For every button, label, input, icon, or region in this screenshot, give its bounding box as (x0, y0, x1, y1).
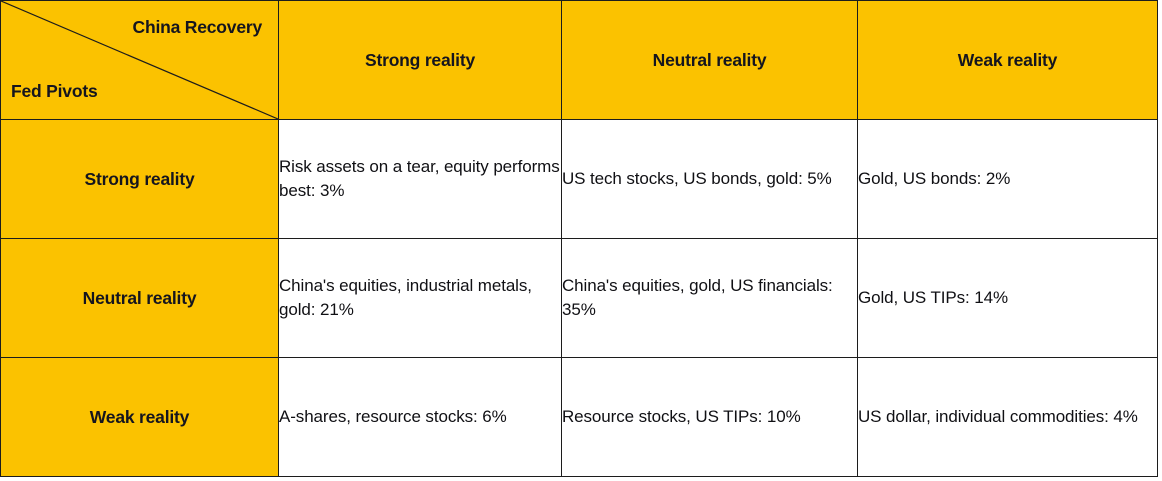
cell-neutral-strong: China's equities, industrial metals, gol… (279, 239, 562, 358)
column-header-neutral-reality: Neutral reality (562, 1, 858, 120)
row-axis-label: Fed Pivots (11, 81, 98, 102)
column-header-weak-reality: Weak reality (858, 1, 1158, 120)
table-header-row: China Recovery Fed Pivots Strong reality… (1, 1, 1158, 120)
scenario-matrix-table: China Recovery Fed Pivots Strong reality… (0, 0, 1158, 477)
row-header-strong-reality: Strong reality (1, 120, 279, 239)
scenario-matrix-container: China Recovery Fed Pivots Strong reality… (0, 0, 1162, 481)
table-row: Weak reality A-shares, resource stocks: … (1, 358, 1158, 477)
column-axis-label: China Recovery (133, 17, 262, 38)
column-header-strong-reality: Strong reality (279, 1, 562, 120)
cell-strong-neutral: US tech stocks, US bonds, gold: 5% (562, 120, 858, 239)
table-row: Neutral reality China's equities, indust… (1, 239, 1158, 358)
cell-neutral-weak: Gold, US TIPs: 14% (858, 239, 1158, 358)
corner-axis-cell: China Recovery Fed Pivots (1, 1, 279, 120)
row-header-neutral-reality: Neutral reality (1, 239, 279, 358)
cell-strong-strong: Risk assets on a tear, equity performs b… (279, 120, 562, 239)
table-row: Strong reality Risk assets on a tear, eq… (1, 120, 1158, 239)
cell-weak-neutral: Resource stocks, US TIPs: 10% (562, 358, 858, 477)
row-header-weak-reality: Weak reality (1, 358, 279, 477)
cell-strong-weak: Gold, US bonds: 2% (858, 120, 1158, 239)
cell-weak-strong: A-shares, resource stocks: 6% (279, 358, 562, 477)
cell-weak-weak: US dollar, individual commodities: 4% (858, 358, 1158, 477)
cell-neutral-neutral: China's equities, gold, US financials: 3… (562, 239, 858, 358)
